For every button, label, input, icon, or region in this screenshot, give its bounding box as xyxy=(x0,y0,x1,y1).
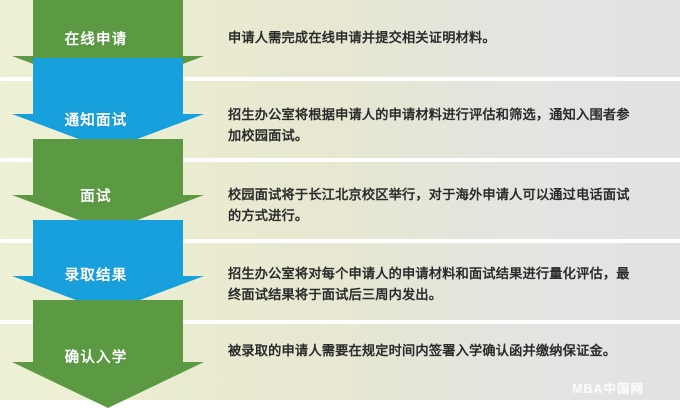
process-flow-diagram: 在线申请 通知面试 面试 录取结果 确认入学 申请人需完成在线申请并提交相关 xyxy=(0,0,680,415)
arrow-column: 在线申请 通知面试 面试 录取结果 确认入学 xyxy=(0,0,215,415)
arrow-label-step-3: 面试 xyxy=(0,190,192,205)
description-step-3: 校园面试将于长江北京校区举行，对于海外申请人可以通过电话面试的方式进行。 xyxy=(228,184,640,226)
arrow-label-step-1: 在线申请 xyxy=(0,33,192,48)
arrow-step-2[interactable] xyxy=(12,58,204,150)
description-step-4: 招生办公室将对每个申请人的申请材料和面试结果进行量化评估，最终面试结果将于面试后… xyxy=(228,263,640,305)
arrow-label-step-4: 录取结果 xyxy=(0,269,192,284)
arrow-label-step-5: 确认入学 xyxy=(0,351,192,366)
description-step-1: 申请人需完成在线申请并提交相关证明材料。 xyxy=(228,27,640,48)
arrow-label-step-2: 通知面试 xyxy=(0,114,192,129)
arrow-step-4[interactable] xyxy=(12,220,204,312)
arrow-step-3[interactable] xyxy=(12,139,204,231)
description-step-2: 招生办公室将根据申请人的申请材料进行评估和筛选，通知入围者参加校园面试。 xyxy=(228,104,640,146)
description-step-5: 被录取的申请人需要在规定时间内签署入学确认函并缴纳保证金。 xyxy=(228,340,640,361)
